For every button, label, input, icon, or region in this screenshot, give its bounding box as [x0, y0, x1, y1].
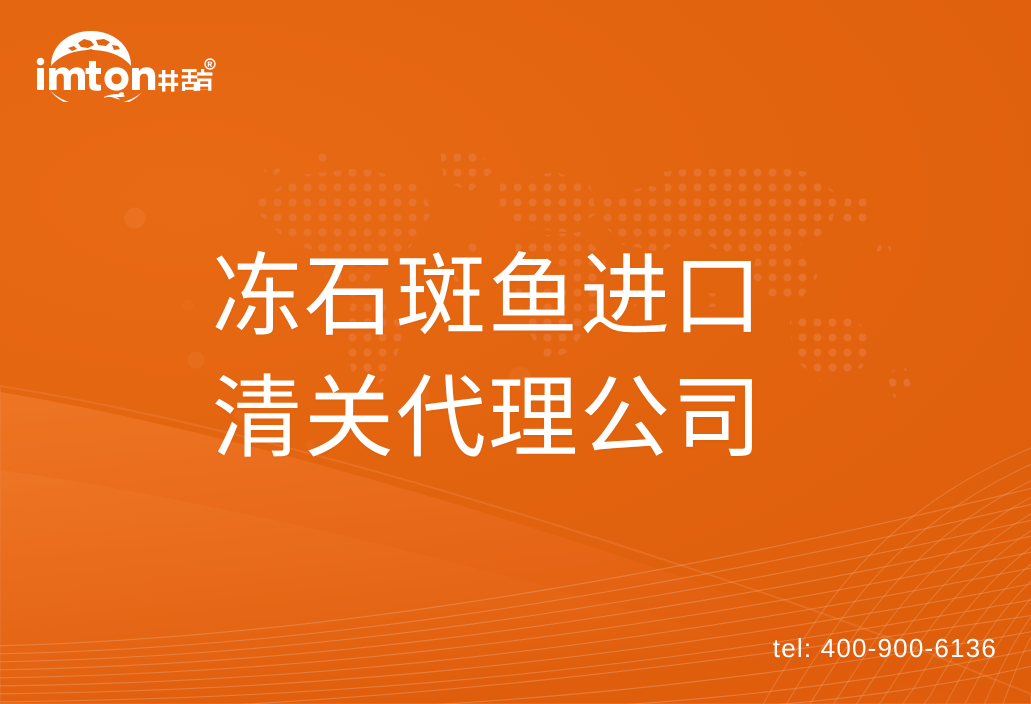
globe-dome-icon: [51, 31, 131, 66]
promotional-banner: 冻石斑鱼进口 清关代理公司 tel: 400-900-6136: [0, 0, 1031, 704]
brand-logo: [34, 28, 216, 102]
swoosh-arc-icon: [50, 90, 142, 102]
contact-phone: tel: 400-900-6136: [773, 633, 997, 664]
trademark-icon: [205, 59, 215, 69]
headline-line-2: 清关代理公司: [212, 358, 764, 480]
page-title: 冻石斑鱼进口 清关代理公司: [212, 236, 764, 480]
logo-brand-cn: [147, 67, 213, 91]
logo-mark: [34, 28, 216, 102]
headline-line-1: 冻石斑鱼进口: [212, 236, 764, 358]
logo-wordmark: [37, 58, 156, 91]
